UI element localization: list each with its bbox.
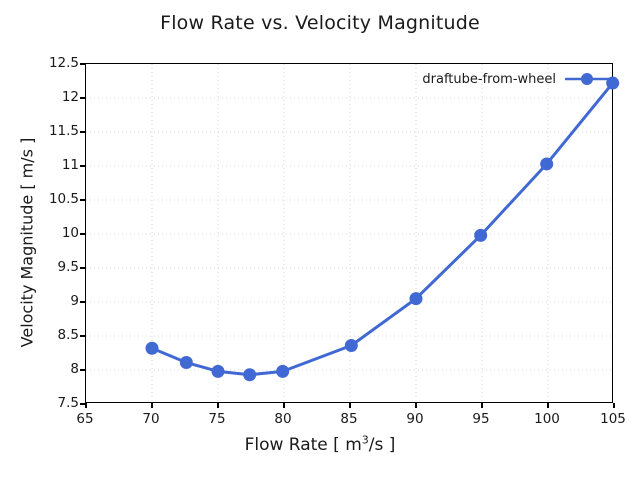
y-axis-tick xyxy=(80,369,85,371)
y-axis-tick xyxy=(80,267,85,269)
x-axis-label-exponent: 3 xyxy=(362,433,369,446)
series-line xyxy=(152,83,613,375)
x-axis-tick xyxy=(349,403,351,408)
legend: draftube-from-wheel xyxy=(422,70,610,88)
x-tick-label: 95 xyxy=(451,411,511,427)
x-tick-label: 75 xyxy=(187,411,247,427)
y-axis-tick xyxy=(80,97,85,99)
data-point-marker xyxy=(212,365,225,378)
y-tick-label: 9 xyxy=(33,293,79,309)
y-tick-label: 11 xyxy=(33,157,79,173)
y-axis-tick xyxy=(80,131,85,133)
y-tick-label: 10 xyxy=(33,225,79,241)
x-tick-label: 85 xyxy=(319,411,379,427)
data-point-marker xyxy=(540,157,553,170)
legend-entry-label: draftube-from-wheel xyxy=(422,72,556,87)
x-axis-tick xyxy=(481,403,483,408)
y-tick-label: 7.5 xyxy=(33,395,79,411)
y-tick-label: 11.5 xyxy=(33,123,79,139)
y-tick-label: 8.5 xyxy=(33,327,79,343)
y-tick-label: 12 xyxy=(33,89,79,105)
y-tick-label: 8 xyxy=(33,361,79,377)
y-tick-label: 12.5 xyxy=(33,55,79,71)
y-axis-tick xyxy=(80,199,85,201)
x-tick-label: 105 xyxy=(583,411,640,427)
data-series-layer xyxy=(86,64,614,404)
legend-line-sample xyxy=(564,70,610,88)
data-point-marker xyxy=(180,356,193,369)
y-tick-label: 9.5 xyxy=(33,259,79,275)
y-axis-tick xyxy=(80,301,85,303)
y-axis-tick xyxy=(80,165,85,167)
x-tick-label: 100 xyxy=(517,411,577,427)
x-tick-label: 80 xyxy=(253,411,313,427)
data-point-marker xyxy=(474,229,487,242)
page-title: Flow Rate vs. Velocity Magnitude xyxy=(0,12,640,34)
x-axis-label-prefix: Flow Rate [ m xyxy=(245,435,362,455)
x-tick-label: 65 xyxy=(55,411,115,427)
x-tick-label: 70 xyxy=(121,411,181,427)
data-point-marker xyxy=(276,365,289,378)
x-axis-label: Flow Rate [ m3/s ] xyxy=(0,435,640,455)
y-axis-tick xyxy=(80,335,85,337)
plot-area: draftube-from-wheel xyxy=(85,63,613,403)
data-point-marker xyxy=(243,368,256,381)
data-point-marker xyxy=(410,292,423,305)
y-axis-tick xyxy=(80,233,85,235)
x-axis-tick xyxy=(151,403,153,408)
x-axis-tick xyxy=(283,403,285,408)
x-axis-tick xyxy=(85,403,87,408)
chart-figure: Flow Rate vs. Velocity Magnitude Velocit… xyxy=(0,0,640,480)
x-axis-tick xyxy=(217,403,219,408)
data-point-marker xyxy=(146,342,159,355)
x-axis-tick xyxy=(547,403,549,408)
y-axis-tick xyxy=(80,63,85,65)
x-tick-label: 90 xyxy=(385,411,445,427)
data-point-marker xyxy=(345,339,358,352)
x-axis-tick xyxy=(415,403,417,408)
y-tick-label: 10.5 xyxy=(33,191,79,207)
x-axis-label-suffix: /s ] xyxy=(369,435,396,455)
x-axis-tick xyxy=(613,403,615,408)
